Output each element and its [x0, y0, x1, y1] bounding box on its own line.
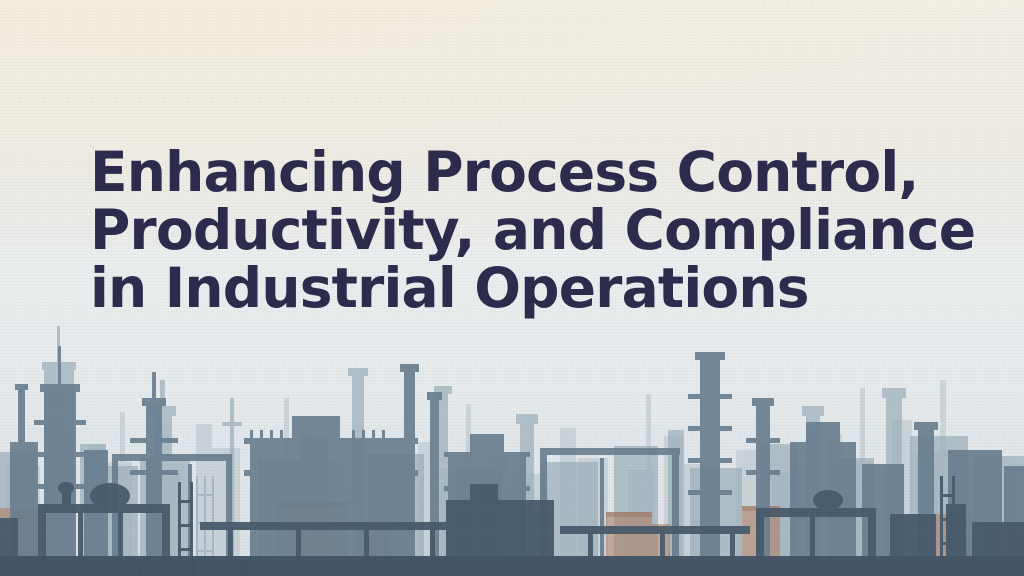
page-title: Enhancing Process Control, Productivity,…: [90, 143, 950, 317]
title-slide: Enhancing Process Control, Productivity,…: [0, 0, 1024, 576]
skyline-layer-foreground: [0, 456, 1024, 576]
title-line-3: in Industrial Operations: [90, 259, 950, 317]
title-line-2: Productivity, and Compliance: [90, 201, 950, 259]
title-line-1: Enhancing Process Control,: [90, 143, 950, 201]
